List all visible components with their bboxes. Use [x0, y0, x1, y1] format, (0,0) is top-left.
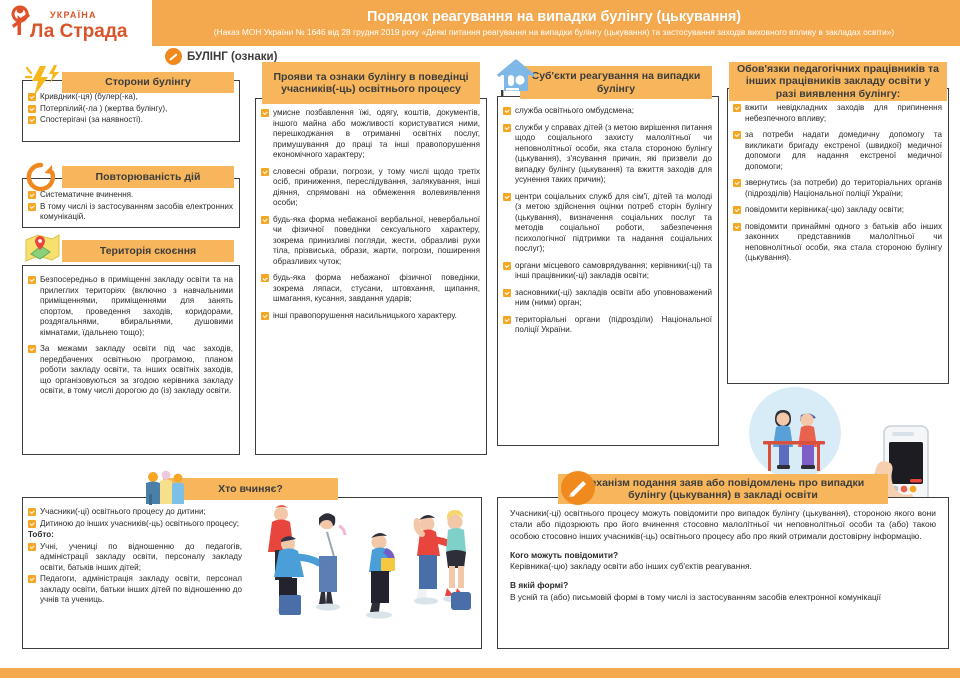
la-strada-logo: УКРАЇНА Ла Страда [0, 0, 152, 46]
list-item: будь-яка форма небажаної фізичної поведі… [261, 273, 480, 305]
list-item: Систематичне вчинення. [28, 190, 233, 201]
subjects-header: Суб'єкти реагування на випадки булінгу [520, 66, 712, 99]
who-header: Хто вчиняє? [163, 478, 338, 500]
pencil-circle-icon-large [560, 470, 596, 511]
page-header: УКРАЇНА Ла Страда Порядок реагування на … [0, 0, 960, 46]
list-item: повідомити принаймні одного з батьків аб… [733, 222, 942, 264]
list-item: Спостерігачі (за наявності). [28, 115, 233, 126]
list-item: повідомити керівника(-цю) закладу освіти… [733, 205, 942, 216]
who-list-a: Учасники(-ці) освітнього процесу до дити… [28, 507, 242, 529]
list-item: центри соціальних служб для сім'ї, дітей… [503, 192, 712, 255]
list-item: служба освітнього омбудсмена; [503, 106, 712, 117]
territory-title: Територія скоєння [100, 245, 196, 257]
duties-header: Обов'язки педагогічних працівників та ін… [729, 62, 947, 101]
signs-header: Прояви та ознаки булінгу в поведінці уча… [262, 62, 480, 104]
list-item: Потерпілий(-ла ) (жертва булінгу), [28, 104, 233, 115]
list-item: Учні, учениці по відношенню до педагогів… [28, 542, 242, 574]
list-item: словесні образи, погрози, у тому числі щ… [261, 167, 480, 209]
lightning-bolt-icon [24, 64, 68, 98]
duties-list: вжити невідкладних заходів для припиненн… [733, 103, 942, 264]
svg-text:Ла Страда: Ла Страда [30, 21, 128, 42]
list-item: В тому числі із застосуванням засобів ел… [28, 202, 233, 223]
refresh-circle-icon [26, 162, 56, 192]
logo-graphic: УКРАЇНА Ла Страда [4, 1, 150, 45]
list-item: Педагоги, адміністрація закладу освіти, … [28, 574, 242, 606]
page-subtitle: (Наказ МОН України № 1646 від 28 грудня … [214, 27, 894, 37]
mechanism-answer-2: В усній та (або) письмовій формі в тому … [510, 592, 936, 603]
signs-list: умисне позбавлення їжі, одягу, коштів, д… [261, 108, 480, 321]
sides-header: Сторони булінгу [62, 72, 234, 93]
map-pin-icon [22, 232, 62, 266]
mechanism-paragraph: Учасники(-ці) освітнього процесу можуть … [510, 508, 936, 542]
list-item: Дитиною до інших учасників(-ць) освітньо… [28, 519, 242, 530]
repeat-title: Повторюваність дій [96, 171, 201, 183]
territory-list: Безпосередньо в приміщенні закладу освіт… [28, 275, 233, 397]
signs-card: умисне позбавлення їжі, одягу, коштів, д… [255, 98, 487, 455]
who-title: Хто вчиняє? [218, 483, 283, 495]
list-item: будь-яка форма небажаної вербальної, нев… [261, 215, 480, 268]
svg-text:УКРАЇНА: УКРАЇНА [50, 10, 97, 20]
footer-bar [0, 668, 960, 678]
people-group-icon [142, 470, 188, 506]
mechanism-card: Учасники(-ці) освітнього процесу можуть … [497, 497, 949, 649]
subjects-card: служба освітнього омбудсмена; служби у с… [497, 96, 719, 446]
repeat-header: Повторюваність дій [62, 166, 234, 188]
sides-title: Сторони булінгу [105, 76, 191, 88]
mechanism-title: Механізм подання заяв або повідомлень пр… [564, 477, 882, 502]
territory-card: Безпосередньо в приміщенні закладу освіт… [22, 265, 240, 455]
list-item: служби у справах дітей (з метою вирішенн… [503, 123, 712, 186]
mechanism-question-2: В якій формі? [510, 580, 936, 591]
signs-title: Прояви та ознаки булінгу в поведінці уча… [268, 71, 474, 96]
list-item: органи місцевого самоврядування; керівни… [503, 261, 712, 282]
list-item: територіальні органи (підрозділи) Націон… [503, 315, 712, 336]
list-item: за потреби надати домедичну допомогу та … [733, 130, 942, 172]
pencil-circle-icon [560, 470, 596, 506]
duties-title: Обов'язки педагогічних працівників та ін… [735, 63, 941, 100]
pencil-circle-icon [165, 48, 182, 65]
list-item: За межами закладу освіти під час заходів… [28, 344, 233, 397]
bulling-signs-label: БУЛІНГ (ознаки) [165, 48, 277, 65]
bullying-students-illustration [255, 500, 477, 642]
duties-card: вжити невідкладних заходів для припиненн… [727, 88, 949, 384]
list-item: умисне позбавлення їжі, одягу, коштів, д… [261, 108, 480, 161]
list-item: звернутись (за потреби) до територіальни… [733, 178, 942, 199]
subjects-list: служба освітнього омбудсмена; служби у с… [503, 106, 712, 336]
list-item: Учасники(-ці) освітнього процесу до дити… [28, 507, 242, 518]
mechanism-header: Механізм подання заяв або повідомлень пр… [558, 474, 888, 504]
list-item: вжити невідкладних заходів для припиненн… [733, 103, 942, 124]
subjects-title: Суб'єкти реагування на випадки булінгу [526, 70, 706, 95]
page-title: Порядок реагування на випадки булінгу (ц… [367, 9, 741, 26]
repeat-list: Систематичне вчинення. В тому числі із з… [28, 190, 233, 223]
territory-header: Територія скоєння [62, 240, 234, 262]
list-item: Безпосередньо в приміщенні закладу освіт… [28, 275, 233, 338]
mechanism-question-1: Кого можуть повідомити? [510, 550, 936, 561]
infographic-page: УКРАЇНА Ла Страда Порядок реагування на … [0, 0, 960, 678]
bulling-signs-label-text: БУЛІНГ (ознаки) [187, 51, 277, 63]
mechanism-answer-1: Керівника(-цю) закладу освіти або інших … [510, 561, 936, 572]
who-tobto-label: Тобто: [28, 530, 242, 541]
house-icon [496, 58, 536, 96]
who-list-b: Учні, учениці по відношенню до педагогів… [28, 542, 242, 606]
list-item: інші правопорушення насильницького харак… [261, 311, 480, 322]
list-item: засновники(-ці) закладів освіти або упов… [503, 288, 712, 309]
header-text-block: Порядок реагування на випадки булінгу (ц… [152, 0, 960, 46]
